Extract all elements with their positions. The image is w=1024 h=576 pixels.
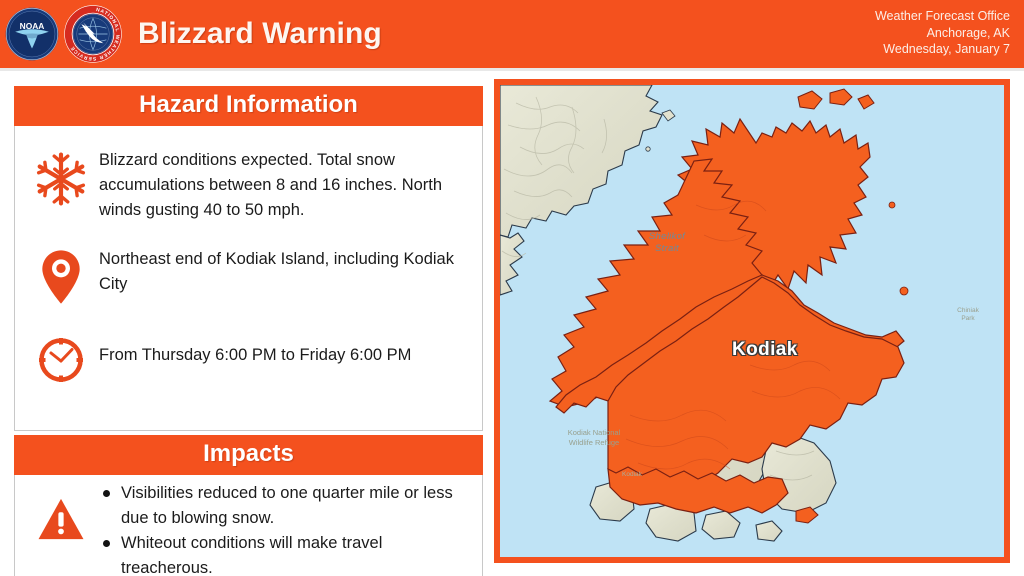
warning-islet-e1 — [889, 202, 895, 208]
hazard-row-time: From Thursday 6:00 PM to Friday 6:00 PM — [15, 331, 482, 385]
impacts-row: Visibilities reduced to one quarter mile… — [15, 475, 482, 576]
snow-hazard-text: Blizzard conditions expected. Total snow… — [99, 146, 474, 223]
header-bar: NOAA NATIONAL WEATHER SERVICE — [0, 0, 1024, 68]
impact-item: Whiteout conditions will make travel tre… — [99, 531, 474, 576]
snowflake-icon — [23, 146, 99, 208]
warning-islet-e2 — [900, 287, 908, 295]
hazard-row-location: Northeast end of Kodiak Island, includin… — [15, 245, 482, 305]
impacts-list: Visibilities reduced to one quarter mile… — [99, 475, 474, 576]
nws-logo: NATIONAL WEATHER SERVICE — [64, 5, 122, 63]
info-panel: Hazard Information — [14, 86, 483, 563]
office-name: Weather Forecast Office — [875, 8, 1010, 25]
weather-alert-graphic: NOAA NATIONAL WEATHER SERVICE — [0, 0, 1024, 576]
page-title: Blizzard Warning — [138, 17, 382, 51]
impacts-heading: Impacts — [14, 435, 483, 475]
hazard-information-heading: Hazard Information — [14, 86, 483, 126]
map-canvas[interactable]: Shelikof Strait Kodiak Kodiak National W… — [500, 85, 1004, 557]
hazard-row-snow: Blizzard conditions expected. Total snow… — [15, 146, 482, 223]
map-graphic — [500, 85, 1004, 557]
warning-triangle-icon — [23, 475, 99, 541]
hazard-information-body: Blizzard conditions expected. Total snow… — [14, 126, 483, 431]
forecast-office-info: Weather Forecast Office Anchorage, AK We… — [875, 8, 1010, 58]
agency-logos: NOAA NATIONAL WEATHER SERVICE — [4, 5, 122, 63]
issue-date: Wednesday, January 7 — [875, 41, 1010, 58]
impact-item: Visibilities reduced to one quarter mile… — [99, 481, 474, 531]
noaa-logo: NOAA — [4, 6, 60, 62]
clock-icon — [23, 331, 99, 385]
noaa-logo-text: NOAA — [20, 21, 45, 31]
time-text: From Thursday 6:00 PM to Friday 6:00 PM — [99, 331, 474, 368]
location-text: Northeast end of Kodiak Island, includin… — [99, 245, 474, 297]
header-divider — [0, 68, 1024, 71]
map-pin-icon — [23, 245, 99, 305]
office-location: Anchorage, AK — [875, 25, 1010, 42]
warning-area-map: Shelikof Strait Kodiak Kodiak National W… — [494, 79, 1010, 563]
impacts-body: Visibilities reduced to one quarter mile… — [14, 475, 483, 576]
mainland-islet-1 — [646, 147, 650, 151]
